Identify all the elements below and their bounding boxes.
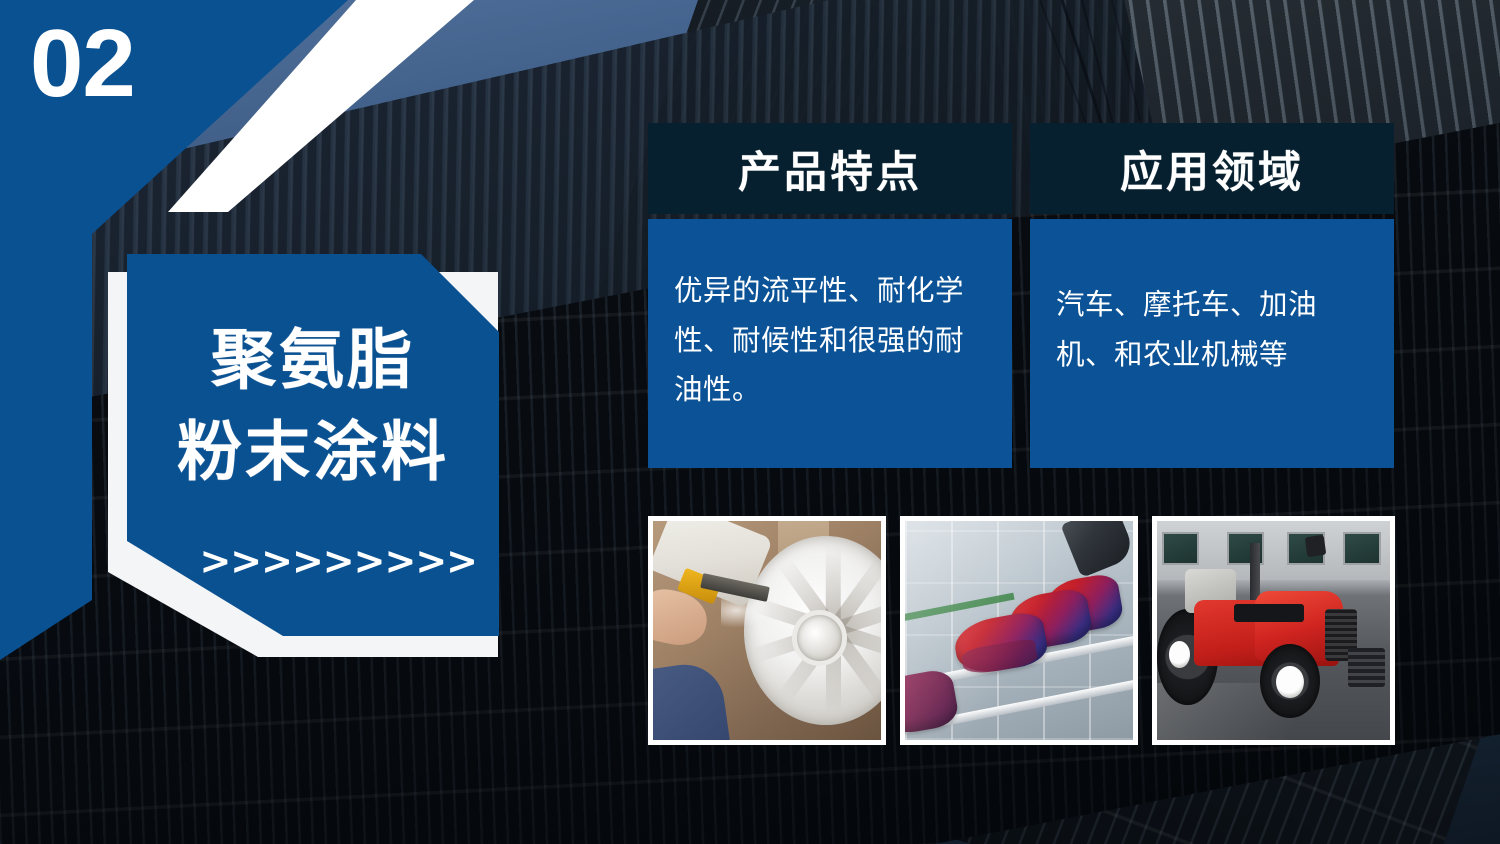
card-application-areas: 应用领域 汽车、摩托车、加油机、和农业机械等 [1030, 123, 1394, 468]
photo3-exhaust-pipe [1250, 543, 1259, 600]
card-body-text: 优异的流平性、耐化学性、耐候性和很强的耐油性。 [674, 267, 986, 416]
slide-title-line-2: 粉末涂料 [127, 406, 499, 498]
photo3-window [1162, 532, 1199, 565]
card-header: 应用领域 [1030, 123, 1394, 214]
photo3-rear-rim [1169, 641, 1190, 667]
photo3-counterweight [1348, 648, 1385, 687]
card-product-features: 产品特点 优异的流平性、耐化学性、耐候性和很强的耐油性。 [648, 123, 1012, 468]
slide-canvas: 02 聚氨脂 粉末涂料 >>>>>>>>> 产品特点 优异的流平性、耐化学性、耐… [0, 0, 1500, 844]
photo-strip [648, 516, 1396, 745]
photo3-front-rim [1276, 666, 1304, 699]
card-header: 产品特点 [648, 123, 1012, 214]
slide-title: 聚氨脂 粉末涂料 [127, 314, 499, 499]
card-header-label: 应用领域 [1120, 138, 1304, 200]
photo3-window [1343, 532, 1380, 565]
photo-powder-coating-alloy-wheel [648, 516, 886, 745]
photo-inner [905, 521, 1133, 740]
photo-inner [653, 521, 881, 740]
card-body: 优异的流平性、耐化学性、耐候性和很强的耐油性。 [648, 219, 1012, 468]
photo3-mirror [1305, 535, 1326, 557]
photo3-hood-decal [1234, 604, 1304, 622]
card-header-label: 产品特点 [738, 138, 922, 200]
photo-motorcycle-tanks-coating-line [900, 516, 1138, 745]
card-body: 汽车、摩托车、加油机、和农业机械等 [1030, 219, 1394, 468]
section-number: 02 [30, 14, 135, 115]
card-body-text: 汽车、摩托车、加油机、和农业机械等 [1056, 281, 1368, 380]
photo-inner [1157, 521, 1390, 740]
photo1-wheel-hub [797, 615, 843, 661]
photo2-haze [905, 521, 1133, 740]
slide-title-line-1: 聚氨脂 [127, 314, 499, 406]
photo-red-tractor [1152, 516, 1395, 745]
info-cards: 产品特点 优异的流平性、耐化学性、耐候性和很强的耐油性。 应用领域 汽车、摩托车… [648, 123, 1394, 468]
